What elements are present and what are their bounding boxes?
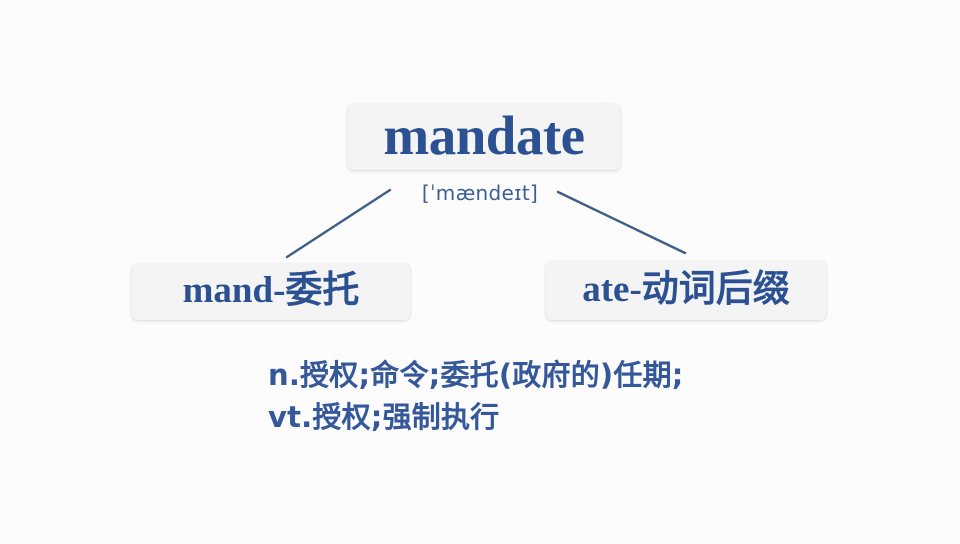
phonetic-transcription: [ˈmændeɪt] — [0, 181, 960, 205]
headword-box: mandate — [348, 104, 620, 170]
headword-text: mandate — [383, 108, 584, 167]
morpheme-box-root: mand-委托 — [132, 264, 410, 320]
morpheme-label-root: mand-委托 — [183, 272, 360, 312]
definition-line-noun: n.授权;命令;委托(政府的)任期; — [268, 354, 684, 396]
definition-block: n.授权;命令;委托(政府的)任期; vt.授权;强制执行 — [268, 354, 684, 438]
definition-line-verb: vt.授权;强制执行 — [268, 396, 684, 438]
morpheme-box-suffix: ate-动词后缀 — [546, 261, 826, 320]
morpheme-label-suffix: ate-动词后缀 — [582, 271, 790, 311]
